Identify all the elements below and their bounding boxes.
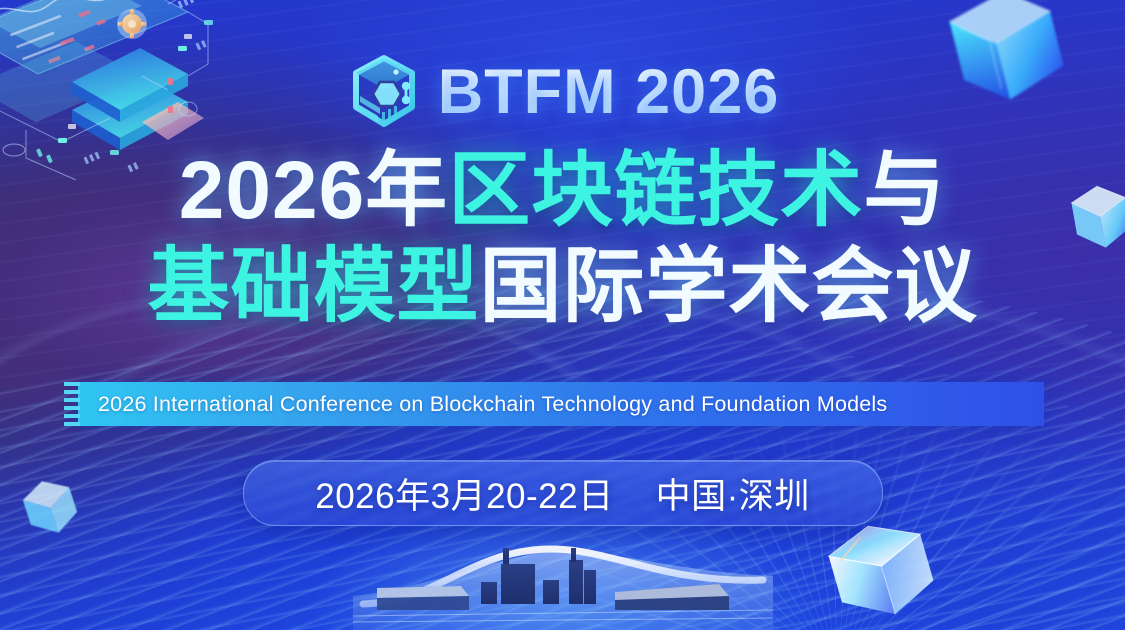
english-subtitle-bar: 2026 International Conference on Blockch… <box>78 382 1044 426</box>
title-segment: 与 <box>863 145 946 236</box>
brand-header: BTFM 2026 <box>0 52 1125 132</box>
conference-date: 2026年3月20-22日 <box>315 468 613 519</box>
main-title-line-2: 基础模型国际学术会议 <box>0 239 1125 335</box>
brand-title: BTFM 2026 <box>438 56 780 128</box>
title-segment: 2026年 <box>179 145 448 236</box>
subtitle-dash-accent <box>64 382 80 426</box>
title-segment: 基础模型 <box>147 241 479 332</box>
conference-location: 中国·深圳 <box>656 468 810 519</box>
hexagon-cube-blockchain-icon <box>346 52 422 132</box>
title-segment: 国际学术会议 <box>480 241 978 332</box>
crystal-cube-left <box>14 468 86 544</box>
main-title: 2026年区块链技术与 基础模型国际学术会议 <box>0 143 1125 335</box>
main-title-line-1: 2026年区块链技术与 <box>0 143 1125 239</box>
date-location-pill: 2026年3月20-22日 中国·深圳 <box>243 460 883 526</box>
title-segment: 区块链技术 <box>448 145 863 236</box>
english-subtitle-text: 2026 International Conference on Blockch… <box>78 392 887 417</box>
conference-banner: BTFM 2026 2026年区块链技术与 基础模型国际学术会议 2026 In… <box>0 0 1125 630</box>
shenzhen-skyline-icon <box>353 518 773 630</box>
